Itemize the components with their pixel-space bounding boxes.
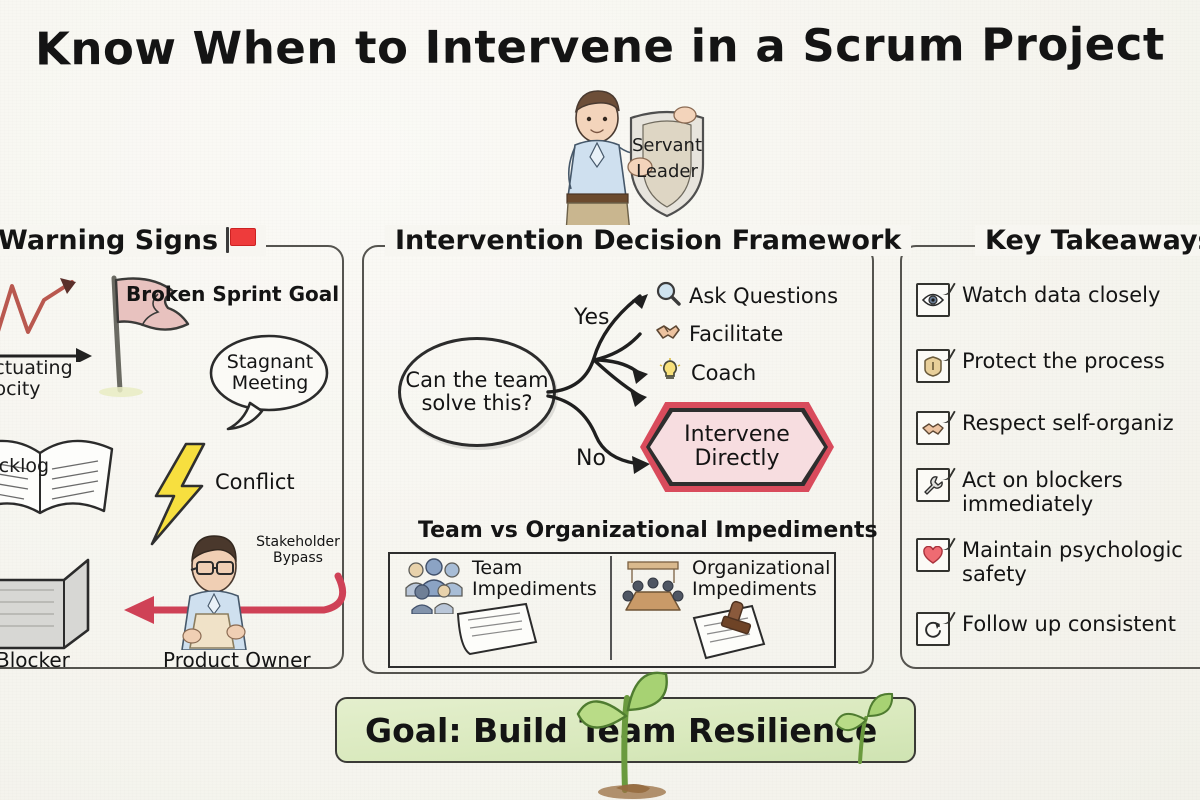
- shield-icon: [916, 349, 950, 383]
- impediments-divider: [610, 556, 612, 660]
- warning-signs-title: Warning Signs: [0, 225, 266, 256]
- branch-no-label: No: [576, 446, 606, 471]
- takeaway-watch-data-label: Watch data closely: [962, 283, 1160, 307]
- team-impediments-label: TeamImpediments: [472, 558, 597, 600]
- decision-question-text: Can the team solve this?: [401, 369, 553, 415]
- broken-sprint-goal-label: Broken Sprint Goal: [126, 282, 339, 306]
- cracked-stone-block-icon: [0, 550, 104, 650]
- takeaway-psychological-safety: Maintain psychologicsafety: [916, 538, 1183, 586]
- sticky-note-icon: [452, 600, 542, 658]
- sprout-icon: [540, 660, 710, 800]
- page-title: Know When to Intervene in a Scrum Projec…: [0, 17, 1200, 75]
- takeaway-psychological-safety-label: Maintain psychologicsafety: [962, 538, 1183, 586]
- magnifier-icon: [655, 280, 681, 311]
- option-facilitate-label: Facilitate: [689, 322, 783, 346]
- option-ask-questions: Ask Questions: [655, 280, 838, 311]
- warning-signs-title-text: Warning Signs: [0, 225, 218, 256]
- decision-question-node: Can the team solve this?: [398, 337, 556, 447]
- takeaway-act-on-blockers: Act on blockersimmediately: [916, 468, 1123, 516]
- fluctuating-velocity-label: FluctuatingVelocity: [0, 358, 96, 400]
- boardroom-meeting-icon: [622, 558, 684, 619]
- decision-framework-title: Intervention Decision Framework: [385, 225, 911, 256]
- takeaway-act-on-blockers-label: Act on blockersimmediately: [962, 468, 1123, 516]
- blocker-label: Blocker: [0, 648, 70, 672]
- option-coach-label: Coach: [691, 361, 756, 385]
- takeaway-protect-process: Protect the process: [916, 349, 1165, 383]
- red-flag-icon: [226, 227, 256, 253]
- zigzag-trend-arrow-icon: [0, 272, 110, 362]
- organizational-impediments-label: OrganizationalImpediments: [692, 558, 830, 600]
- option-coach: Coach: [657, 357, 756, 388]
- stagnant-meeting-label: StagnantMeeting: [216, 352, 324, 394]
- takeaway-respect-self-organization-label: Respect self-organiz: [962, 411, 1174, 435]
- takeaway-watch-data: Watch data closely: [916, 283, 1160, 317]
- product-owner-label: Product Owner: [163, 648, 311, 672]
- product-owner-person-icon: [152, 532, 282, 650]
- shield-label-line1: Servant: [632, 135, 702, 156]
- option-ask-questions-label: Ask Questions: [689, 284, 838, 308]
- infographic-canvas: Know When to Intervene in a Scrum Projec…: [0, 0, 1200, 800]
- handshake-icon: [916, 411, 950, 445]
- option-facilitate: Facilitate: [655, 318, 783, 349]
- branch-yes-label: Yes: [574, 305, 610, 330]
- conflict-label: Conflict: [215, 470, 295, 494]
- shield-label-line2: Leader: [636, 161, 698, 182]
- backlog-label: Backlog: [0, 455, 49, 477]
- refresh-cycle-icon: [916, 612, 950, 646]
- heart-icon: [916, 538, 950, 572]
- impediments-title: Team vs Organizational Impediments: [418, 518, 878, 543]
- handshake-icon: [655, 318, 681, 349]
- intervene-line2: Directly: [694, 446, 779, 471]
- lightbulb-icon: [657, 357, 683, 388]
- open-book-icon: [0, 425, 118, 535]
- takeaway-follow-up-label: Follow up consistent: [962, 612, 1176, 636]
- approval-stamp-icon: [686, 598, 776, 660]
- key-takeaways-title: Key Takeaways: [975, 225, 1200, 256]
- servant-leader-figure: Servant Leader: [545, 85, 725, 235]
- takeaway-respect-self-organization: Respect self-organiz: [916, 411, 1174, 445]
- intervene-line1: Intervene: [684, 422, 790, 447]
- sprout-icon-small: [826, 692, 900, 764]
- eye-icon: [916, 283, 950, 317]
- intervene-directly-node: Intervene Directly: [650, 412, 824, 482]
- takeaway-protect-process-label: Protect the process: [962, 349, 1165, 373]
- takeaway-follow-up: Follow up consistent: [916, 612, 1176, 646]
- wrench-icon: [916, 468, 950, 502]
